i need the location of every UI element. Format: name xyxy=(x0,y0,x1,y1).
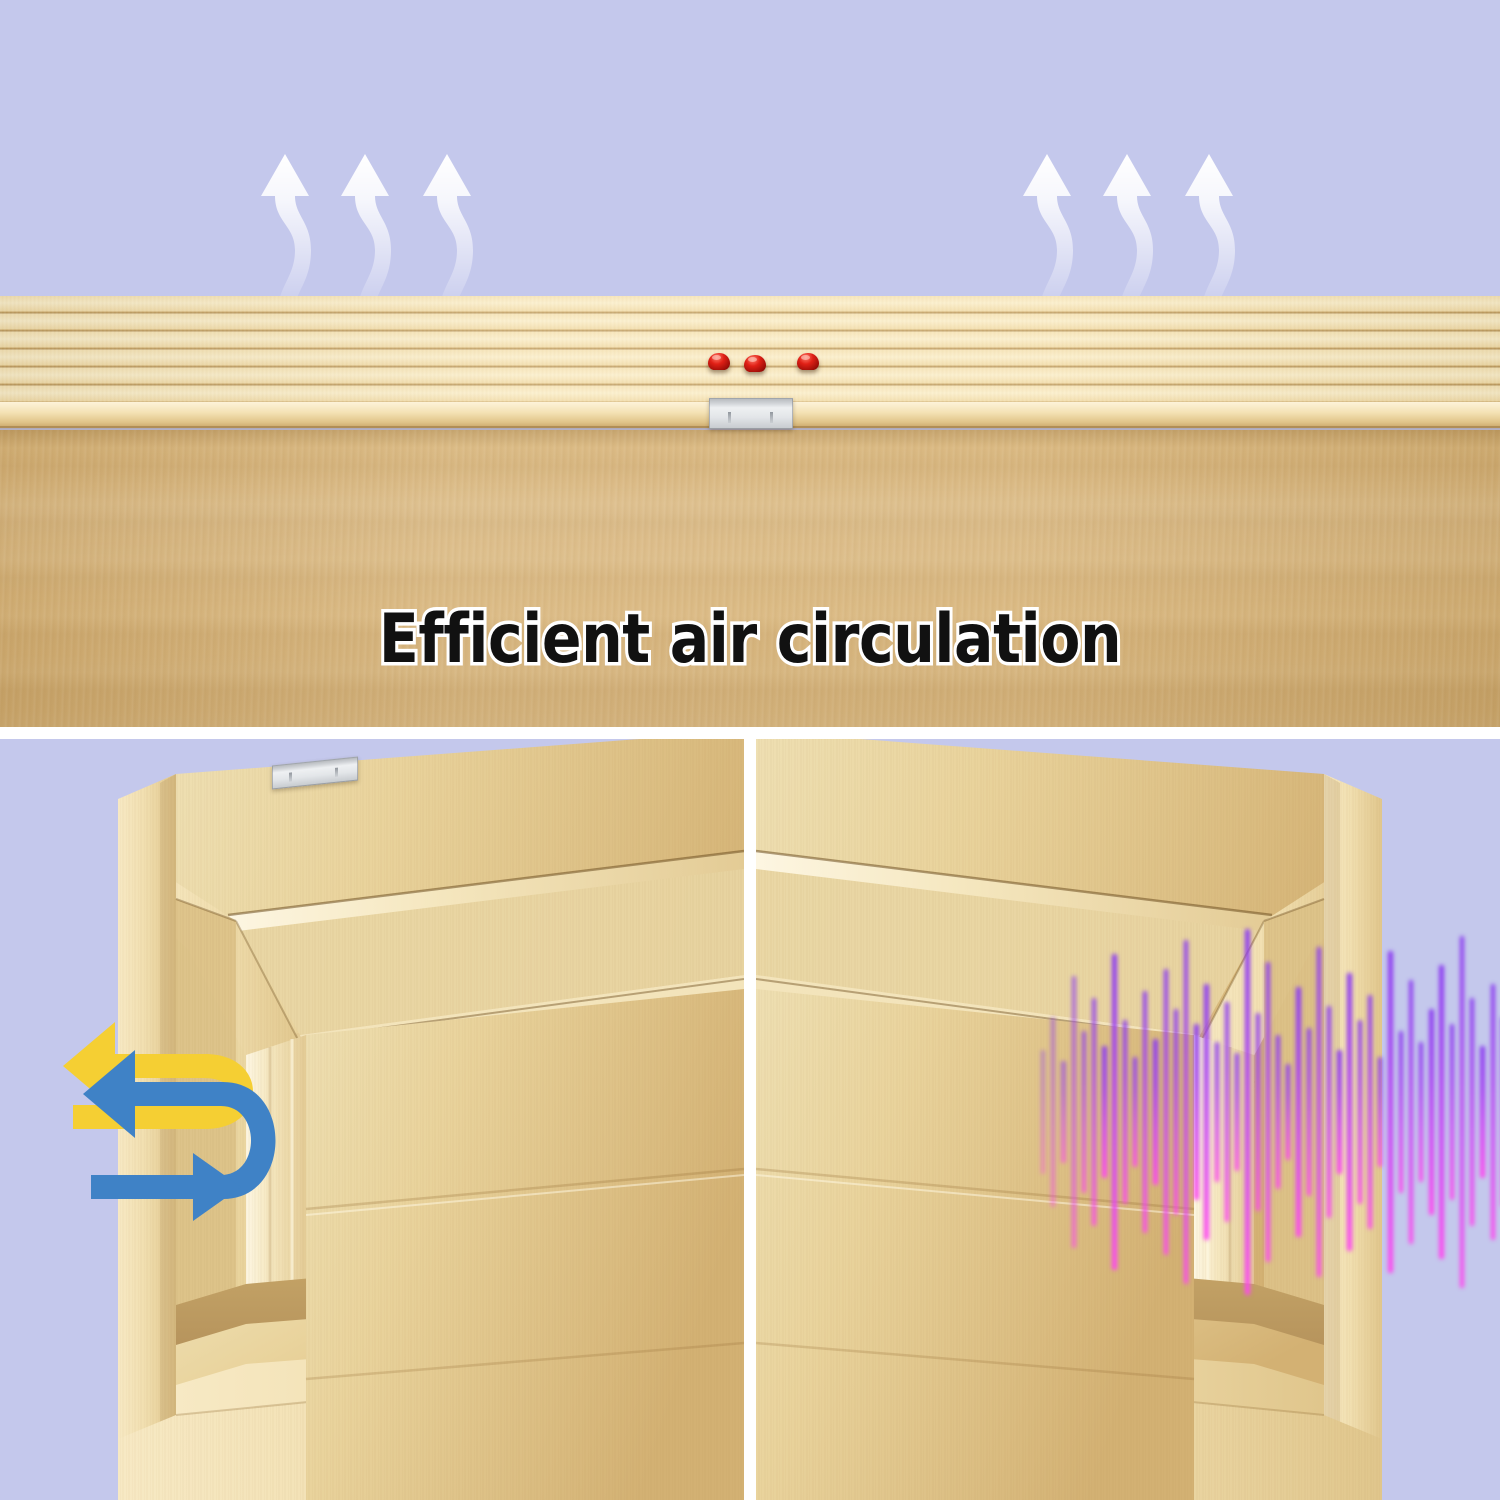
soundwave-bar xyxy=(1092,998,1096,1225)
soundwave-bar xyxy=(1347,973,1351,1252)
soundwave-bar xyxy=(1184,940,1188,1285)
excellent-acoustic-insulation-panel: Excellent acoustic insulation xyxy=(756,739,1500,1500)
soundwave-bar xyxy=(1419,1042,1423,1181)
soundwave-bar xyxy=(1439,965,1443,1258)
soundwave-bar xyxy=(1072,976,1076,1247)
soundwave-bar xyxy=(1286,1064,1290,1159)
soundwave-bar xyxy=(1266,962,1270,1263)
soundwave-bar xyxy=(1276,1035,1280,1189)
slab-front-grain xyxy=(0,430,1500,727)
heat-arrow-group-right xyxy=(1017,118,1287,318)
red-led-icon xyxy=(744,355,766,372)
soundwave-bar xyxy=(1194,1024,1198,1200)
soundwave-bar xyxy=(1337,1050,1341,1175)
exceptional-heat-retention-panel: Exceptional heat retention xyxy=(0,739,744,1500)
soundwave-bar xyxy=(1174,1009,1178,1214)
blue-right-arrow-icon xyxy=(91,1153,241,1221)
soundwave-bar xyxy=(1082,1031,1086,1192)
soundwave-bar xyxy=(1399,1031,1403,1192)
soundwave-bar xyxy=(1409,980,1413,1244)
soundwave-bar xyxy=(1133,1057,1137,1167)
soundwave-bar xyxy=(1112,954,1116,1269)
soundwave-bar xyxy=(1102,1046,1106,1178)
soundwave-bar xyxy=(1215,1042,1219,1181)
soundwave-bar xyxy=(1143,991,1147,1233)
soundwave-bar xyxy=(1153,1039,1157,1186)
soundwave-bar xyxy=(1368,995,1372,1230)
metal-bracket-icon xyxy=(709,398,793,429)
soundwave-bar xyxy=(1460,936,1464,1288)
soundwave-bar xyxy=(1225,1002,1229,1222)
soundwave-bar xyxy=(1296,987,1300,1236)
red-led-icon xyxy=(708,353,730,370)
air-circulation-arrows xyxy=(55,954,345,1229)
soundwave-bar xyxy=(1358,1020,1362,1203)
efficient-air-circulation-panel: Efficient air circulation xyxy=(0,0,1500,727)
soundwave-bar xyxy=(1491,984,1495,1241)
soundwave-bar xyxy=(1450,1024,1454,1200)
soundwave-bar xyxy=(1327,1006,1331,1219)
page-title: Efficient air circulation xyxy=(379,600,1121,679)
soundwave-bar xyxy=(1470,998,1474,1225)
soundwave-bar xyxy=(1051,1017,1055,1208)
soundwave-bar xyxy=(1317,947,1321,1277)
red-led-icon xyxy=(797,353,819,370)
soundwave-bar xyxy=(1388,951,1392,1274)
soundwave-bar xyxy=(1429,1009,1433,1214)
soundwave-bar xyxy=(1245,929,1249,1296)
yellow-u-turn-arrow-icon xyxy=(63,1022,253,1129)
soundwave-bar xyxy=(1480,1046,1484,1178)
soundwave-bar xyxy=(1307,1028,1311,1197)
soundwave-bar xyxy=(1041,1050,1045,1175)
soundwave-bar xyxy=(1378,1057,1382,1167)
soundwave-icon xyxy=(1038,917,1500,1307)
soundwave-bar xyxy=(1204,984,1208,1241)
slab-slat-grain xyxy=(0,296,1500,402)
soundwave-bar xyxy=(1164,969,1168,1255)
soundwave-bar xyxy=(1256,1013,1260,1211)
soundwave-bar xyxy=(1123,1020,1127,1203)
soundwave-bar xyxy=(1061,1061,1065,1164)
product-feature-infographic: Efficient air circulation xyxy=(0,0,1500,1500)
heat-arrow-group-left xyxy=(255,118,525,318)
soundwave-bar xyxy=(1235,1053,1239,1170)
